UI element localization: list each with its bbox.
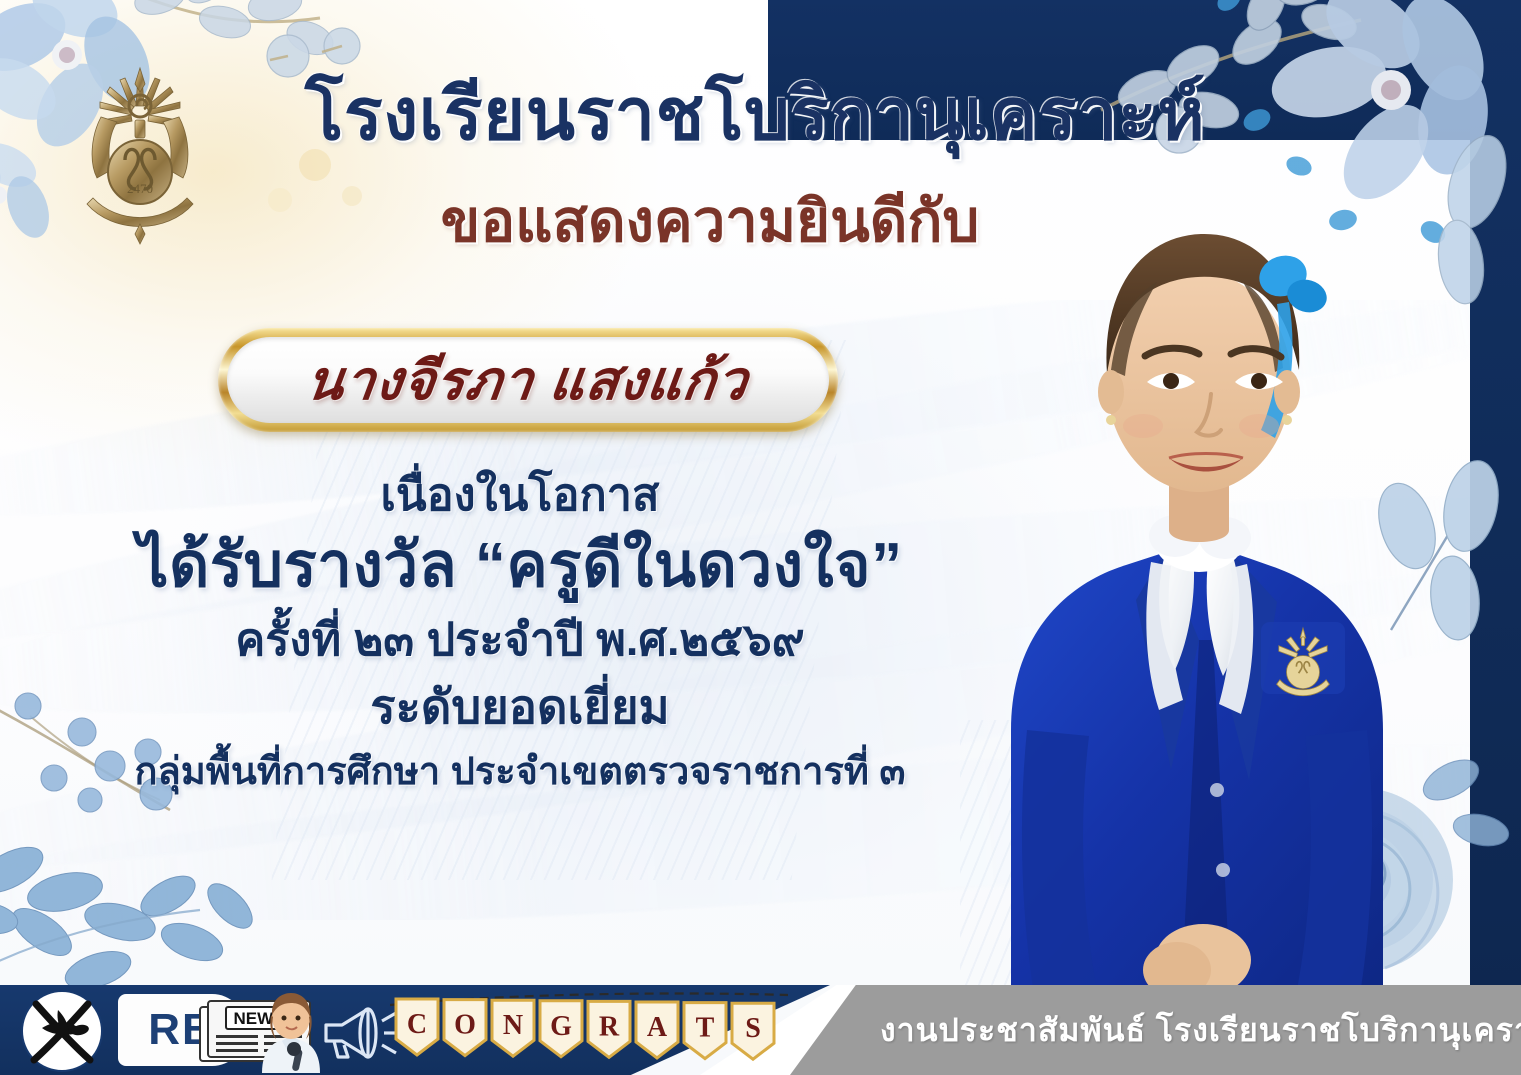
- school-emblem-icon: 2470: [75, 62, 205, 247]
- award-edition-line: ครั้งที่ ๒๓ ประจำปี พ.ศ.๒๕๖๙: [60, 613, 980, 667]
- honoree-name-plaque: นางจีรภา แสงแก้ว: [218, 328, 838, 432]
- bunting-letter: A: [647, 1012, 668, 1043]
- award-name-line: ได้รับรางวัล “ครูดีในดวงใจ”: [60, 529, 980, 603]
- plaque-inner-surface: นางจีรภา แสงแก้ว: [227, 337, 829, 423]
- bunting-letter: T: [696, 1013, 715, 1044]
- bunting-letter: S: [745, 1013, 761, 1044]
- honoree-portrait: [931, 170, 1451, 1000]
- congrats-bunting: CONGRATS: [390, 989, 790, 1073]
- navy-right-strip: [1470, 0, 1521, 1000]
- emblem-year: 2470: [127, 181, 153, 196]
- footer-credit: งานประชาสัมพันธ์ โรงเรียนราชโบริกานุเครา…: [880, 985, 1521, 1075]
- footer-bar: RB NEWS: [0, 985, 1521, 1075]
- bunting-letter: C: [407, 1009, 427, 1040]
- honoree-name: นางจีรภา แสงแก้ว: [302, 337, 754, 423]
- occasion-line: เนื่องในโอกาส: [60, 468, 980, 521]
- reporter-icon: [252, 991, 330, 1073]
- bunting-letter: R: [599, 1011, 620, 1042]
- bunting-letter: N: [503, 1010, 523, 1041]
- mourning-ribbon-icon: [12, 988, 112, 1074]
- page-title: โรงเรียนราชโบริกานุเคราะห์: [250, 78, 1260, 154]
- bunting-letter: G: [550, 1011, 572, 1042]
- award-area-line: กลุ่มพื้นที่การศึกษา ประจำเขตตรวจราชการท…: [60, 750, 980, 796]
- award-details: เนื่องในโอกาส ได้รับรางวัล “ครูดีในดวงใจ…: [60, 468, 980, 795]
- award-level-line: ระดับยอดเยี่ยม: [60, 679, 980, 735]
- congratulation-poster: 2470 โรงเรียนราชโบริกานุเคราะห์ ขอแสดงคว…: [0, 0, 1521, 1075]
- bunting-letter: O: [454, 1010, 476, 1041]
